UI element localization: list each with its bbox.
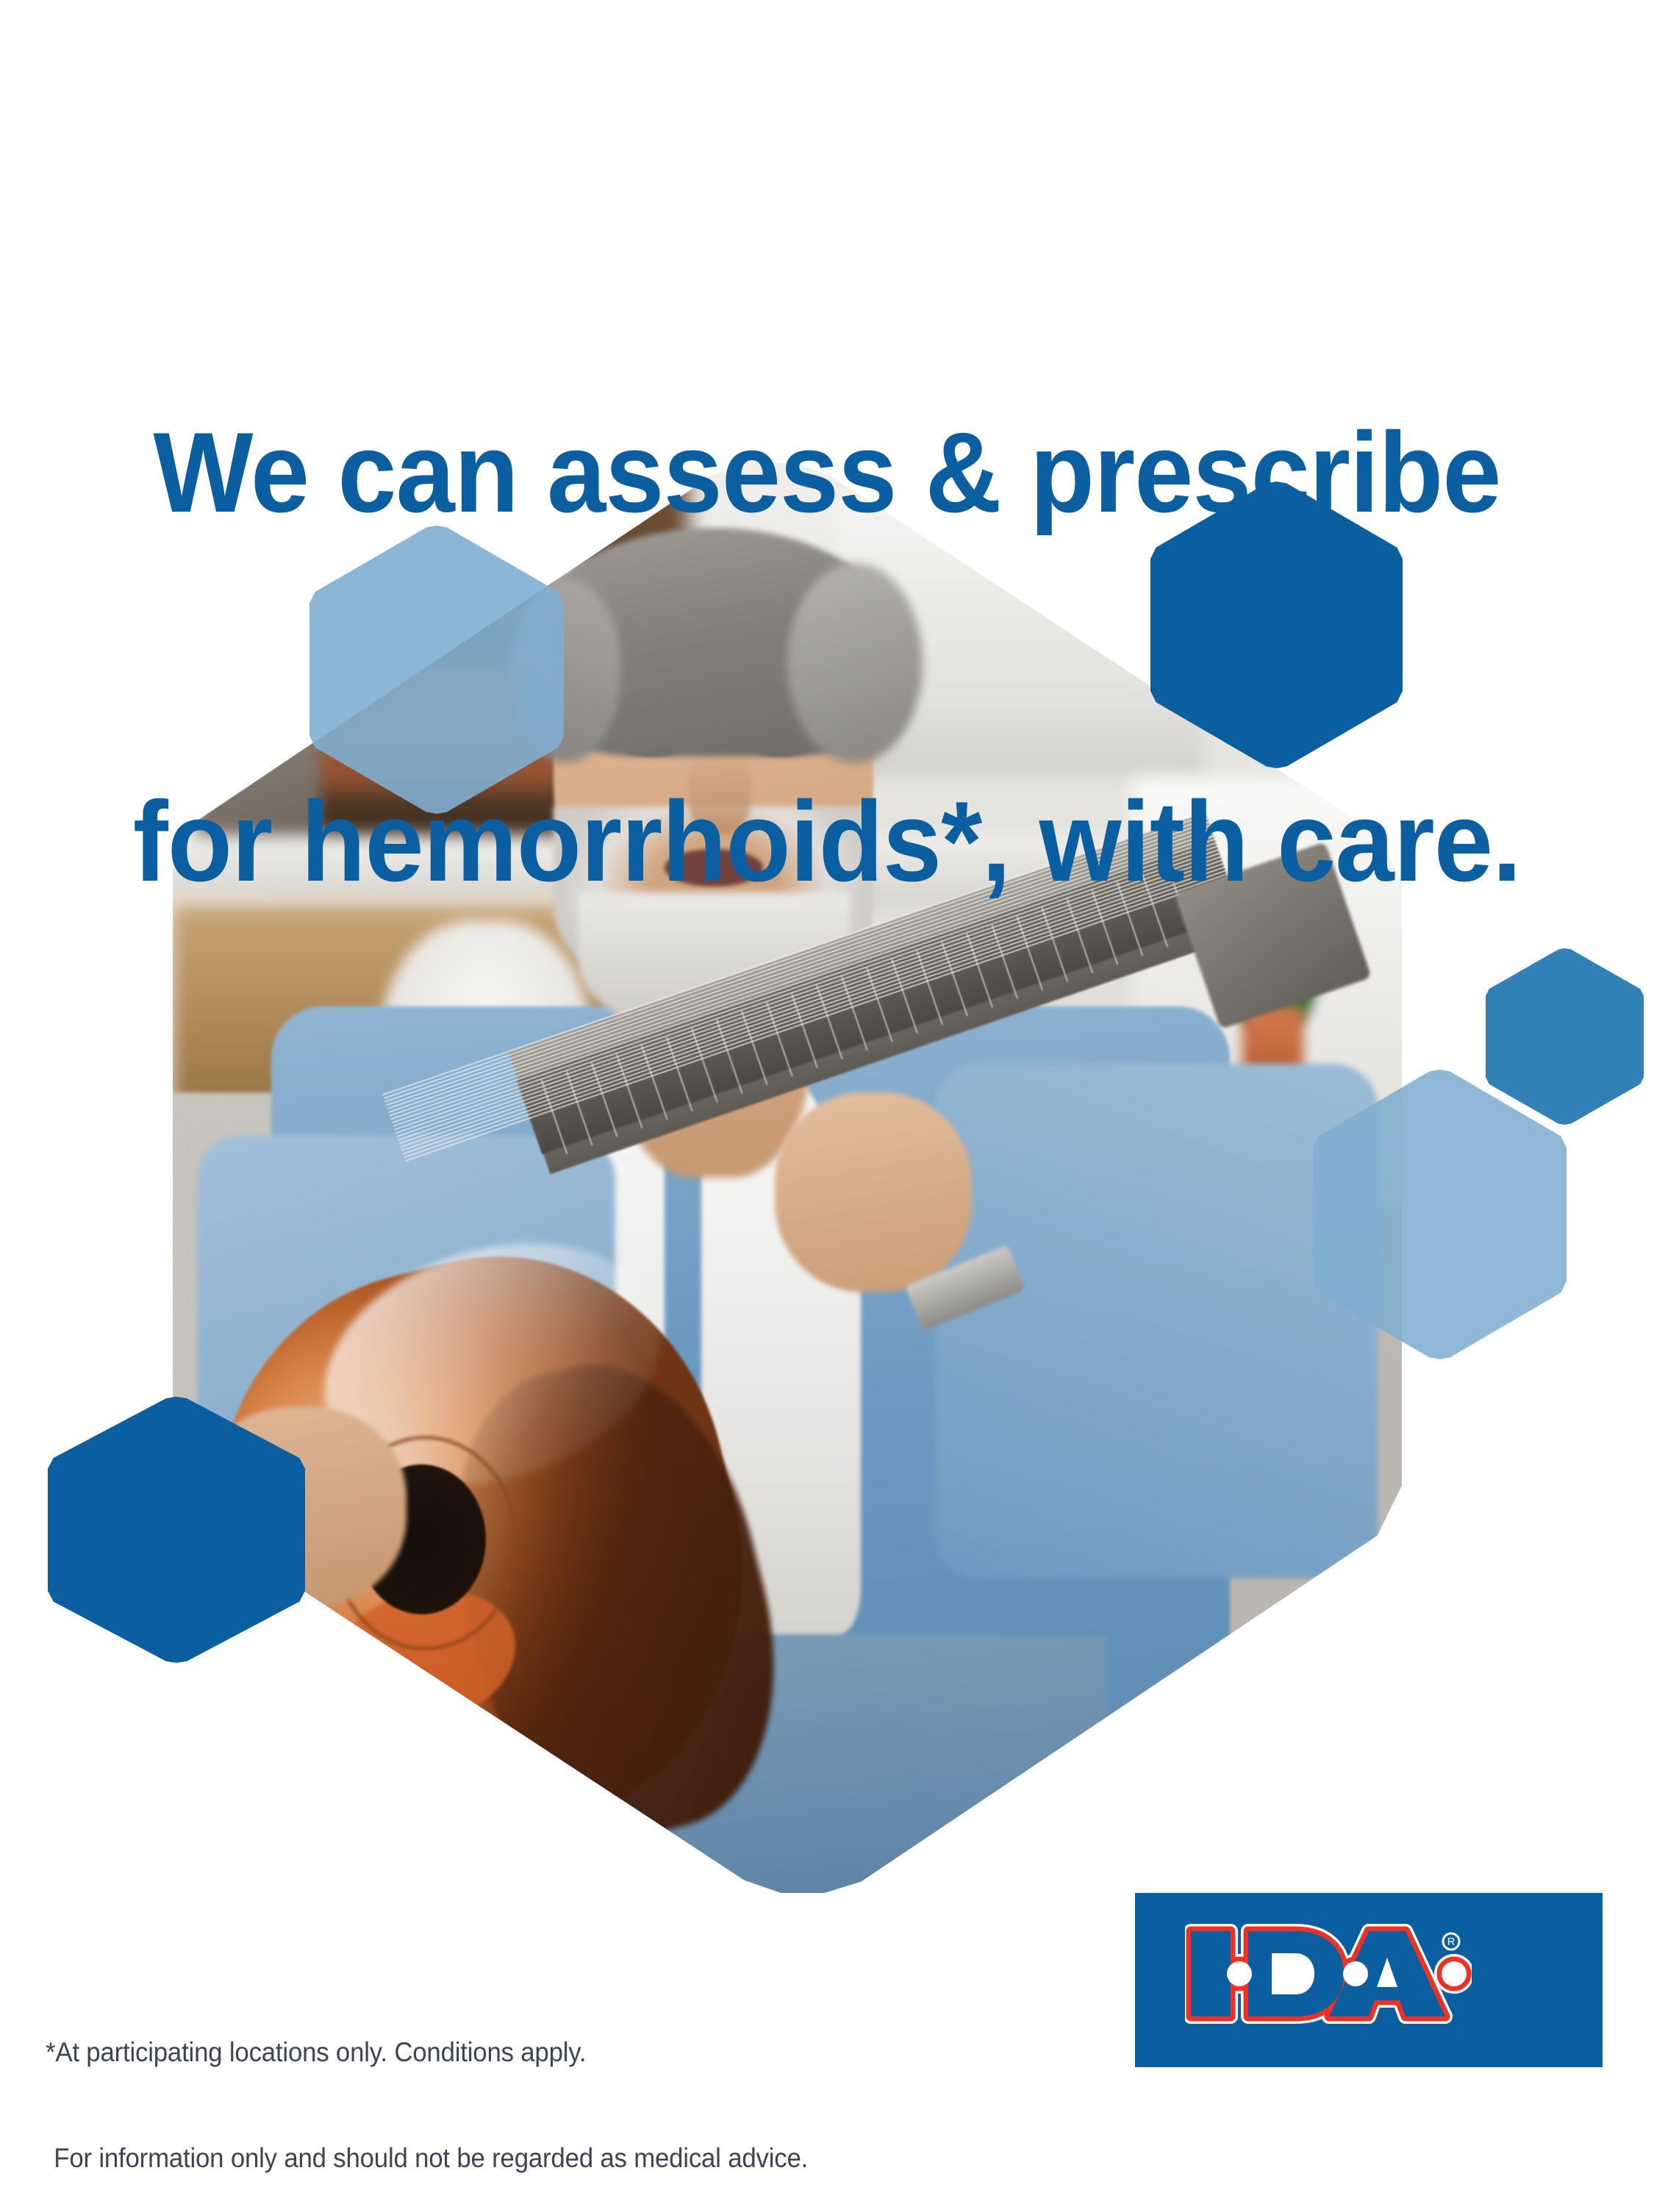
photo-fretting-hand (775, 1092, 972, 1292)
photo-shirt-right-sleeve (935, 1064, 1378, 1578)
headline-line-2: for hemorrhoids*, with care. (58, 780, 1597, 903)
svg-text:R: R (1447, 1936, 1456, 1948)
disclaimer-line-2: For information only and should not be r… (46, 2141, 808, 2176)
page-title: We can assess & prescribe for hemorrhoid… (58, 165, 1597, 1026)
disclaimer-line-1: *At participating locations only. Condit… (46, 2035, 808, 2070)
headline-line-1: We can assess & prescribe (58, 411, 1597, 534)
ida-logo-wordmark: R (1185, 1922, 1472, 2025)
ida-logo: R (1135, 1893, 1603, 2067)
footer-disclaimer: *At participating locations only. Condit… (46, 1964, 808, 2212)
